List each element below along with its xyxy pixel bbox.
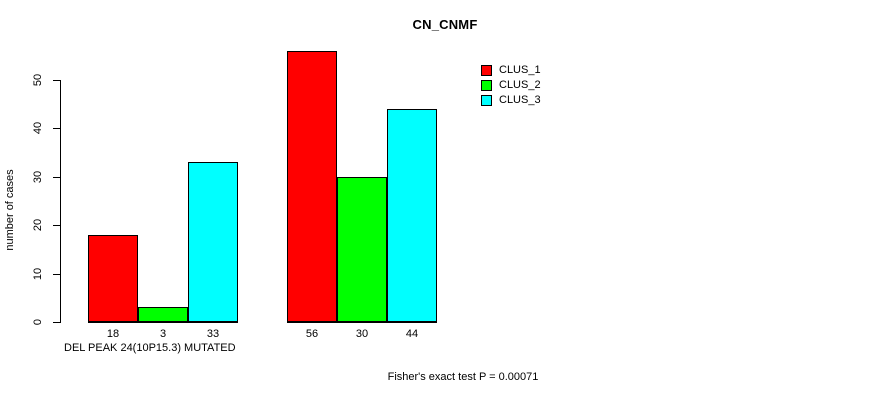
legend: CLUS_1CLUS_2CLUS_3 [481,63,541,108]
group-axis-label: DEL PEAK 24(10P15.3) MUTATED [64,342,236,355]
legend-item-label: CLUS_3 [499,95,541,106]
plot-area: 18333DEL PEAK 24(10P15.3) MUTATED563044 [0,0,890,400]
legend-item-label: CLUS_1 [499,65,541,76]
legend-item[interactable]: CLUS_3 [481,93,541,108]
bar[interactable] [188,162,238,322]
bar-value-label: 30 [337,328,387,340]
legend-swatch [481,80,492,91]
bar[interactable] [287,51,337,322]
chart-canvas: CN_CNMF 50403020100 number of cases 1833… [0,0,890,400]
bar-value-label: 33 [188,328,238,340]
fisher-test-text: Fisher's exact test P = 0.00071 [388,371,539,383]
footer-note: Fisher's exact test P = 0.00071 [0,371,890,383]
bar-value-label: 44 [387,328,437,340]
bar[interactable] [387,109,437,322]
group-baseline [88,322,238,323]
legend-item-label: CLUS_2 [499,80,541,91]
bar[interactable] [337,177,387,322]
legend-swatch [481,95,492,106]
bar[interactable] [88,235,138,322]
legend-item[interactable]: CLUS_1 [481,63,541,78]
legend-swatch [481,65,492,76]
bar-value-label: 56 [287,328,337,340]
bar-value-label: 18 [88,328,138,340]
group-baseline [287,322,437,323]
bar-value-label: 3 [138,328,188,340]
legend-item[interactable]: CLUS_2 [481,78,541,93]
bar[interactable] [138,307,188,322]
